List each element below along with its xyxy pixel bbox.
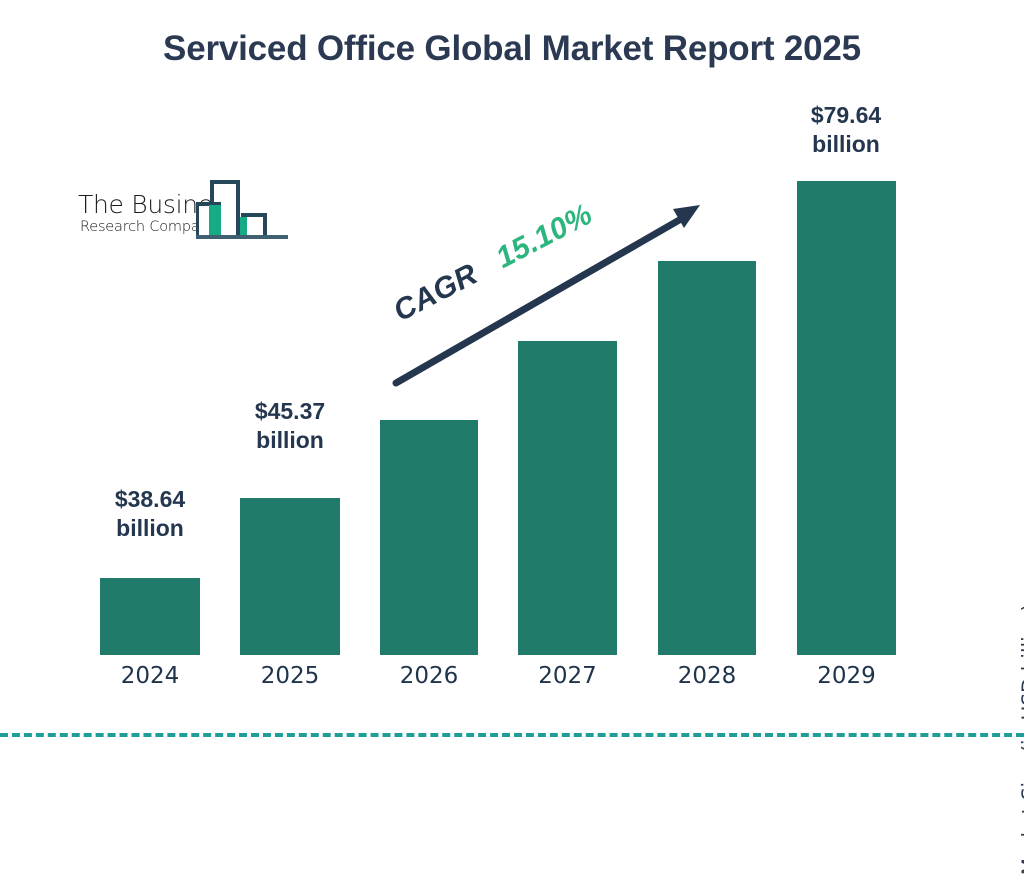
bar-2028 [658,261,756,655]
bar-2027 [518,341,617,655]
footer-divider [0,733,1024,737]
x-axis-tick-2029: 2029 [797,663,896,689]
bar-2029 [797,181,896,655]
bar-chart-plot-area: $38.64 billion2024$45.37 billion20252026… [0,0,1024,768]
bar-value-label-2024: $38.64 billion [62,485,238,544]
bar-2026 [380,420,478,655]
x-axis-tick-2027: 2027 [518,663,617,689]
x-axis-tick-2028: 2028 [658,663,756,689]
x-axis-tick-2026: 2026 [380,663,478,689]
x-axis-tick-2025: 2025 [240,663,340,689]
chart-page: Serviced Office Global Market Report 202… [0,0,1024,768]
x-axis-tick-2024: 2024 [100,663,200,689]
bar-2025 [240,498,340,655]
bar-value-label-2029: $79.64 billion [758,101,934,160]
bar-value-label-2025: $45.37 billion [202,397,378,456]
y-axis-title: Market Size (in USD billion) [1018,604,1024,875]
bar-2024 [100,578,200,655]
